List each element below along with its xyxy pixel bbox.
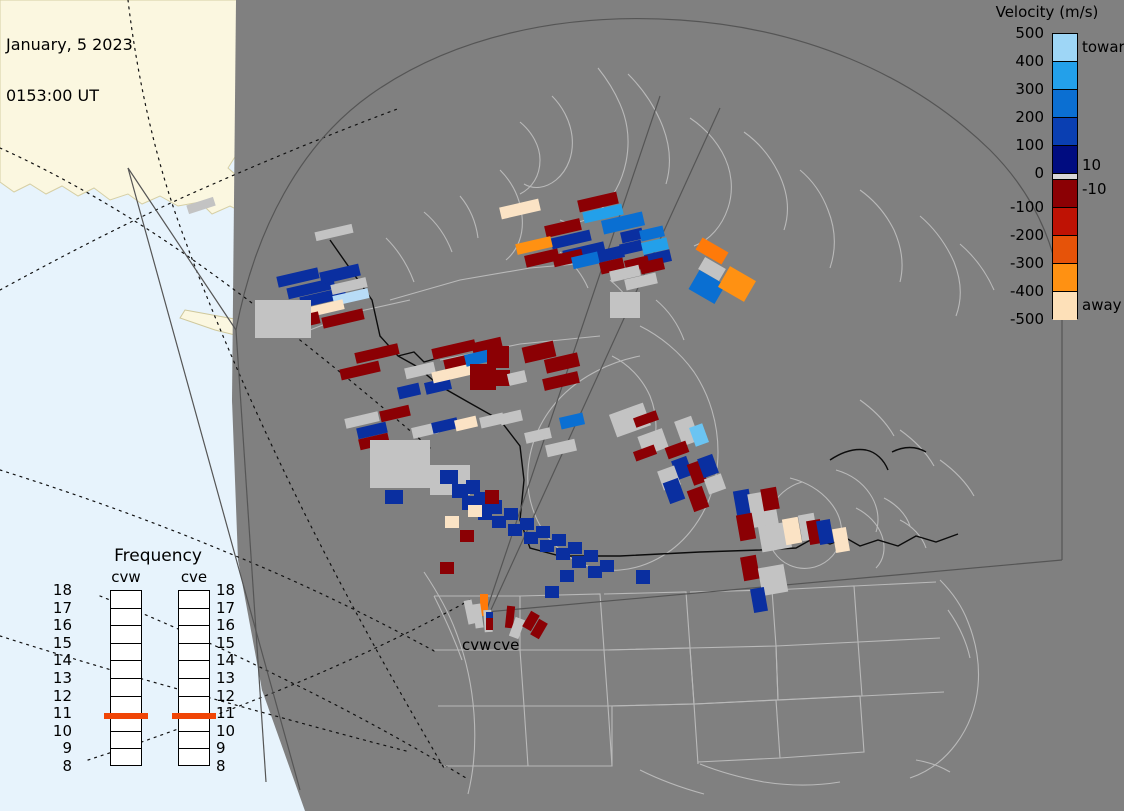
frequency-scale-15: 15: [53, 634, 72, 652]
velocity-cell: [385, 490, 403, 504]
velocity-cell: [492, 370, 510, 386]
frequency-cell: [179, 661, 209, 679]
frequency-cell: [179, 697, 209, 715]
velocity-cell: [485, 490, 499, 504]
velocity-band-6: [1053, 180, 1077, 208]
frequency-column-cve-label: cve: [170, 568, 218, 586]
frequency-scale-10: 10: [53, 722, 72, 740]
frequency-scale-12: 12: [53, 687, 72, 705]
frequency-scale-11: 11: [216, 704, 235, 722]
velocity-cell: [524, 532, 538, 544]
frequency-scale-10: 10: [216, 722, 235, 740]
velocity-band-10: [1053, 292, 1077, 320]
velocity-cell: [487, 346, 509, 368]
frequency-scale-16: 16: [216, 616, 235, 634]
velocity-band-1: [1053, 62, 1077, 90]
frequency-cell: [179, 591, 209, 609]
velocity-cell: [255, 300, 311, 338]
frequency-scale-18: 18: [53, 581, 72, 599]
frequency-legend-title: Frequency: [88, 546, 228, 566]
velocity-band-2: [1053, 90, 1077, 118]
frequency-cell: [179, 644, 209, 662]
timestamp-date: January, 5 2023: [6, 36, 133, 53]
velocity-cell: [440, 470, 458, 484]
velocity-cell: [370, 440, 430, 488]
velocity-colorbar-gradient: [1052, 33, 1078, 319]
velocity-cell: [520, 518, 534, 530]
velocity-cell: [486, 618, 493, 630]
map-canvas: January, 5 2023 0153:00 UT Velocity (m/s…: [0, 0, 1124, 811]
frequency-scale-17: 17: [53, 599, 72, 617]
velocity-colorbar-ticks: 5004003002001000-100-200-300-400-500: [978, 0, 1048, 330]
frequency-scale-8: 8: [216, 757, 226, 775]
velocity-band-4: [1053, 146, 1077, 174]
velocity-tick--400: -400: [1010, 282, 1044, 300]
velocity-colorbar-legend: Velocity (m/s) 5004003002001000-100-200-…: [978, 0, 1124, 330]
velocity-cell: [610, 292, 640, 318]
velocity-cell: [600, 560, 614, 572]
velocity-tick-300: 300: [1015, 80, 1044, 98]
frequency-column-cve-scale: [178, 590, 210, 766]
velocity-tick--200: -200: [1010, 226, 1044, 244]
frequency-scale-18: 18: [216, 581, 235, 599]
frequency-scale-14: 14: [53, 651, 72, 669]
velocity-tick-200: 200: [1015, 108, 1044, 126]
velocity-band-7: [1053, 208, 1077, 236]
frequency-column-cvw-scale: [110, 590, 142, 766]
velocity-cell: [588, 566, 602, 578]
velocity-cell: [440, 562, 454, 574]
frequency-cell: [111, 732, 141, 750]
frequency-scale-12: 12: [216, 687, 235, 705]
velocity-cell: [568, 542, 582, 554]
velocity-cell: [508, 524, 522, 536]
velocity-cell: [556, 548, 570, 560]
frequency-scale-14: 14: [216, 651, 235, 669]
velocity-cell: [492, 516, 506, 528]
velocity-cell: [460, 530, 474, 542]
frequency-cell: [111, 697, 141, 715]
velocity-cell: [466, 480, 480, 494]
frequency-column-cvw-label: cvw: [102, 568, 150, 586]
radar-site-label-cvw: cvw: [462, 636, 491, 654]
frequency-cell: [111, 679, 141, 697]
frequency-cell: [111, 749, 141, 767]
frequency-cell: [179, 732, 209, 750]
frequency-cell: [179, 626, 209, 644]
velocity-away-label: away: [1082, 296, 1122, 314]
velocity-cell: [445, 516, 459, 528]
velocity-tick-100: 100: [1015, 136, 1044, 154]
velocity-cell: [540, 540, 554, 552]
velocity-band-0: [1053, 34, 1077, 62]
velocity-tick-0: 0: [1034, 164, 1044, 182]
frequency-cell: [111, 661, 141, 679]
velocity-toward-label: toward: [1082, 38, 1124, 56]
velocity-cell: [536, 526, 550, 538]
velocity-cell: [452, 484, 468, 498]
frequency-scale-17: 17: [216, 599, 235, 617]
velocity-band-9: [1053, 264, 1077, 292]
velocity-cell: [636, 570, 650, 584]
frequency-scale-13: 13: [53, 669, 72, 687]
frequency-scale-8: 8: [62, 757, 72, 775]
frequency-cell: [111, 626, 141, 644]
frequency-scale-9: 9: [62, 739, 72, 757]
velocity-positive-threshold-label: 10: [1082, 156, 1101, 174]
frequency-cell: [179, 609, 209, 627]
frequency-cell: [179, 679, 209, 697]
frequency-scale-16: 16: [53, 616, 72, 634]
velocity-band-8: [1053, 236, 1077, 264]
frequency-column-cve-marker: [172, 713, 216, 719]
frequency-column-cvw-marker: [104, 713, 148, 719]
velocity-cell: [584, 550, 598, 562]
frequency-cell: [111, 609, 141, 627]
velocity-cell: [468, 505, 482, 517]
frequency-legend: Frequency cvw 18171615141312111098 cve 1…: [88, 546, 258, 786]
radar-site-label-cve: cve: [493, 636, 519, 654]
frequency-cell: [179, 749, 209, 767]
frequency-cell: [111, 591, 141, 609]
frequency-cell: [111, 644, 141, 662]
velocity-tick--500: -500: [1010, 310, 1044, 328]
velocity-tick-400: 400: [1015, 52, 1044, 70]
velocity-tick-500: 500: [1015, 24, 1044, 42]
velocity-cell: [545, 586, 559, 598]
velocity-cell: [560, 570, 574, 582]
velocity-tick--100: -100: [1010, 198, 1044, 216]
velocity-cell: [552, 534, 566, 546]
timestamp-time: 0153:00 UT: [6, 87, 133, 104]
velocity-tick--300: -300: [1010, 254, 1044, 272]
frequency-scale-11: 11: [53, 704, 72, 722]
frequency-scale-15: 15: [216, 634, 235, 652]
timestamp-overlay: January, 5 2023 0153:00 UT: [6, 2, 133, 138]
velocity-negative-threshold-label: -10: [1082, 180, 1107, 198]
velocity-band-3: [1053, 118, 1077, 146]
frequency-scale-13: 13: [216, 669, 235, 687]
velocity-cell: [504, 508, 518, 520]
velocity-cell: [572, 556, 586, 568]
frequency-scale-9: 9: [216, 739, 226, 757]
